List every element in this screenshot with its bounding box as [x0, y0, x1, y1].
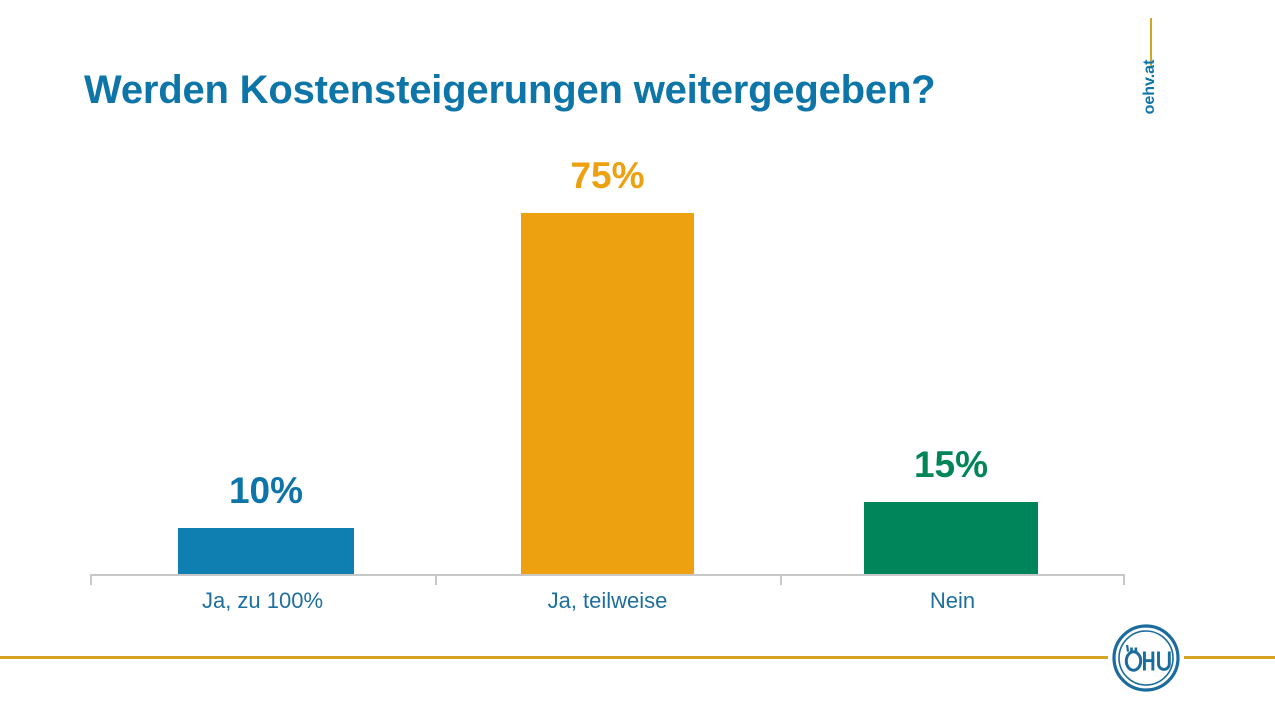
bar-group-ja-zu-100[interactable]: 10%	[178, 0, 354, 574]
x-axis-label-ja-teilweise: Ja, teilweise	[435, 588, 780, 614]
footer-rule	[0, 656, 1275, 659]
x-axis-line	[90, 574, 1125, 576]
x-axis-tick	[435, 574, 437, 585]
bar-ja-zu-100[interactable]	[178, 528, 354, 574]
bar-value-ja-teilweise: 75%	[521, 155, 694, 197]
oehv-logo	[1108, 620, 1184, 696]
bar-group-nein[interactable]: 15%	[864, 0, 1038, 574]
bar-chart: 10% 75% 15% Ja, zu 100% Ja, teilweise Ne…	[0, 0, 1275, 640]
bar-nein[interactable]	[864, 502, 1038, 574]
bar-ja-teilweise[interactable]	[521, 213, 694, 574]
x-axis-tick	[90, 574, 92, 585]
x-axis-tick	[1123, 574, 1125, 585]
x-axis-label-nein: Nein	[780, 588, 1125, 614]
x-axis-label-ja-zu-100: Ja, zu 100%	[90, 588, 435, 614]
x-axis-tick	[780, 574, 782, 585]
slide-canvas: Werden Kostensteigerungen weitergegeben?…	[0, 0, 1275, 717]
bar-value-ja-zu-100: 10%	[178, 470, 354, 512]
bar-value-nein: 15%	[864, 444, 1038, 486]
bar-group-ja-teilweise[interactable]: 75%	[521, 0, 694, 574]
